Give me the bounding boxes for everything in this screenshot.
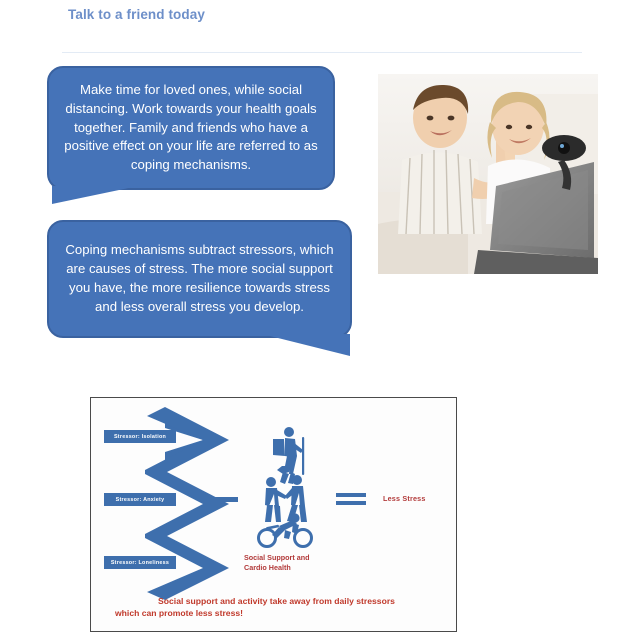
walking-couple-icon — [265, 475, 307, 522]
stressor-label-loneliness: Stressor: Loneliness — [111, 560, 169, 566]
bubble-two-tail — [262, 334, 350, 356]
speech-bubble-two-text: Coping mechanisms subtract stressors, wh… — [49, 241, 350, 317]
children-video-call-photo — [378, 74, 598, 274]
hiker-icon — [273, 427, 304, 484]
equals-bar-top — [336, 493, 366, 497]
stressor-bar-isolation: Stressor: Isolation — [104, 430, 176, 443]
photo-illustration — [378, 74, 598, 274]
stressor-label-anxiety: Stressor: Anxiety — [116, 497, 165, 503]
speech-bubble-stress-resilience: Coping mechanisms subtract stressors, wh… — [47, 220, 352, 338]
activity-caption-line-1: Social Support and — [244, 553, 310, 562]
header-divider — [62, 52, 582, 53]
stressor-label-isolation: Stressor: Isolation — [114, 434, 166, 440]
result-label-less-stress: Less Stress — [383, 494, 426, 503]
activity-caption-line-2: Cardio Health — [244, 563, 291, 572]
speech-bubble-one-text: Make time for loved ones, while social d… — [49, 81, 333, 175]
page-title: Talk to a friend today — [68, 7, 205, 22]
activity-icons-group — [249, 426, 321, 548]
equals-sign-icon — [336, 493, 366, 506]
stress-equation-infographic: Stressor: Isolation Stressor: Anxiety St… — [90, 397, 457, 632]
infographic-caption-line-2: which can promote less stress! — [109, 608, 444, 620]
activity-caption: Social Support and Cardio Health — [244, 553, 344, 573]
minus-sign-icon — [212, 497, 238, 502]
stressor-bar-anxiety: Stressor: Anxiety — [104, 493, 176, 506]
stressor-bar-loneliness: Stressor: Loneliness — [104, 556, 176, 569]
equals-bar-bottom — [336, 501, 366, 505]
infographic-caption-line-1: Social support and activity take away fr… — [158, 596, 395, 606]
bubble-one-tail — [52, 186, 138, 204]
speech-bubble-coping-definition: Make time for loved ones, while social d… — [47, 66, 335, 190]
infographic-caption: Social support and activity take away fr… — [109, 596, 444, 619]
